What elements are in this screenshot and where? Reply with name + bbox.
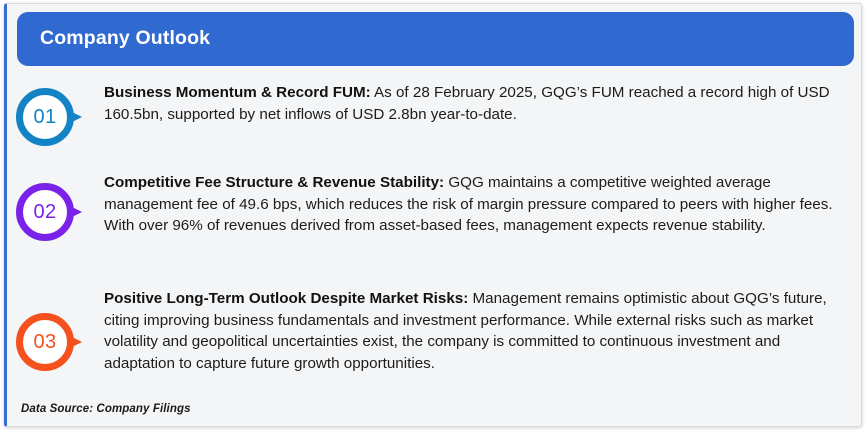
badge-number: 02 xyxy=(33,202,56,222)
outlook-card: Company Outlook 01 Business Momentum & R… xyxy=(4,3,862,427)
slide-container: Company Outlook 01 Business Momentum & R… xyxy=(0,0,866,430)
badge-ring-icon: 02 xyxy=(16,183,74,241)
item-body: Business Momentum & Record FUM: As of 28… xyxy=(104,72,862,125)
list-item: 03 Positive Long-Term Outlook Despite Ma… xyxy=(7,274,862,402)
number-badge-03: 03 xyxy=(16,313,86,371)
badge-number: 03 xyxy=(33,332,56,352)
item-lead: Competitive Fee Structure & Revenue Stab… xyxy=(104,174,444,191)
number-badge-01: 01 xyxy=(16,88,86,146)
header-bar: Company Outlook xyxy=(17,12,854,66)
badge-ring-icon: 01 xyxy=(16,88,74,146)
data-source-note: Data Source: Company Filings xyxy=(21,403,191,415)
item-lead: Positive Long-Term Outlook Despite Marke… xyxy=(104,290,468,307)
outlook-item-list: 01 Business Momentum & Record FUM: As of… xyxy=(7,72,862,402)
item-body: Competitive Fee Structure & Revenue Stab… xyxy=(104,152,862,237)
item-body: Positive Long-Term Outlook Despite Marke… xyxy=(104,274,862,374)
list-item: 02 Competitive Fee Structure & Revenue S… xyxy=(7,152,862,274)
badge-ring-icon: 03 xyxy=(16,313,74,371)
page-title: Company Outlook xyxy=(17,28,210,49)
badge-number: 01 xyxy=(33,107,56,127)
list-item: 01 Business Momentum & Record FUM: As of… xyxy=(7,72,862,152)
item-lead: Business Momentum & Record FUM: xyxy=(104,84,371,101)
number-badge-02: 02 xyxy=(16,183,86,241)
